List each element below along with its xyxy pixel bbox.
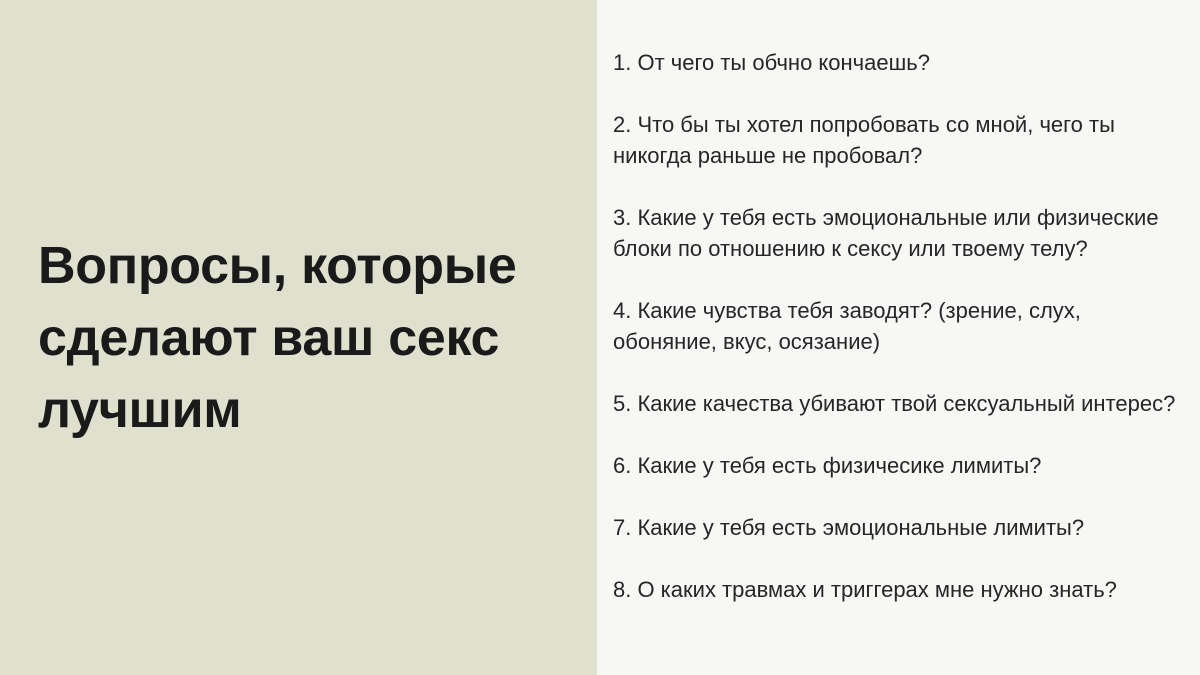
- list-item: 1. От чего ты обчно кончаешь?: [613, 47, 1186, 78]
- list-item: 5. Какие качества убивают твой сексуальн…: [613, 388, 1186, 419]
- content-panel: 1. От чего ты обчно кончаешь? 2. Что бы …: [597, 0, 1200, 675]
- list-item: 4. Какие чувства тебя заводят? (зрение, …: [613, 295, 1186, 357]
- question-list: 1. От чего ты обчно кончаешь? 2. Что бы …: [613, 47, 1186, 605]
- list-item: 7. Какие у тебя есть эмоциональные лимит…: [613, 512, 1186, 543]
- list-item: 6. Какие у тебя есть физичесике лимиты?: [613, 450, 1186, 481]
- page-title: Вопросы, которые сделают ваш секс лучшим: [38, 230, 541, 446]
- list-item: 2. Что бы ты хотел попробовать со мной, …: [613, 109, 1186, 171]
- slide-root: Вопросы, которые сделают ваш секс лучшим…: [0, 0, 1200, 675]
- list-item: 8. О каких травмах и триггерах мне нужно…: [613, 574, 1186, 605]
- list-item: 3. Какие у тебя есть эмоциональные или ф…: [613, 202, 1186, 264]
- title-panel: Вопросы, которые сделают ваш секс лучшим: [0, 0, 597, 675]
